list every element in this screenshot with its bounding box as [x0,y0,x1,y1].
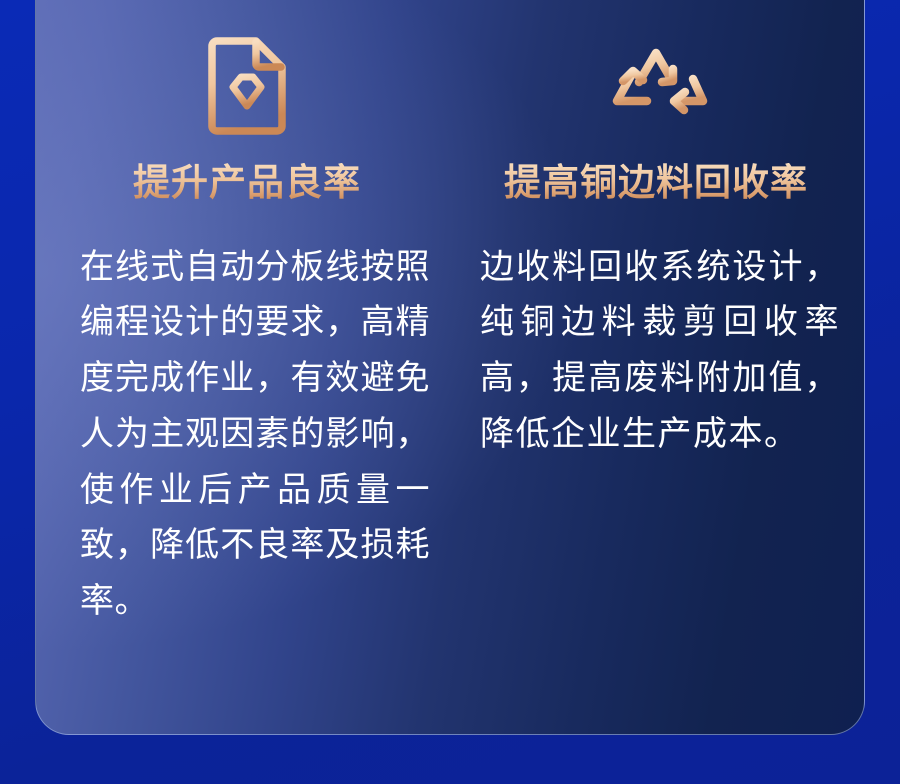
feature-body-copper-recycling: 边收料回收系统设计，纯铜边料裁剪回收率高，提高废料附加值，降低企业生产成本。 [466,240,846,463]
feature-columns: 提升产品良率 在线式自动分板线按照编程设计的要求，高精度完成作业，有效避免人为主… [36,1,865,735]
feature-column-product-yield: 提升产品良率 在线式自动分板线按照编程设计的要求，高精度完成作业，有效避免人为主… [36,1,456,735]
feature-card-panel: 提升产品良率 在线式自动分板线按照编程设计的要求，高精度完成作业，有效避免人为主… [35,0,865,735]
feature-body-product-yield: 在线式自动分板线按照编程设计的要求，高精度完成作业，有效避免人为主观因素的影响，… [58,240,436,630]
feature-title-product-yield: 提升产品良率 [58,163,436,204]
recycle-icon-wrap [466,1,846,135]
recycle-icon [603,39,709,131]
document-diamond-icon-wrap [58,1,436,135]
document-diamond-icon [206,37,288,135]
feature-banner: 提升产品良率 在线式自动分板线按照编程设计的要求，高精度完成作业，有效避免人为主… [0,0,900,784]
feature-column-copper-recycling: 提高铜边料回收率 边收料回收系统设计，纯铜边料裁剪回收率高，提高废料附加值，降低… [456,1,865,735]
feature-title-copper-recycling: 提高铜边料回收率 [466,163,846,204]
